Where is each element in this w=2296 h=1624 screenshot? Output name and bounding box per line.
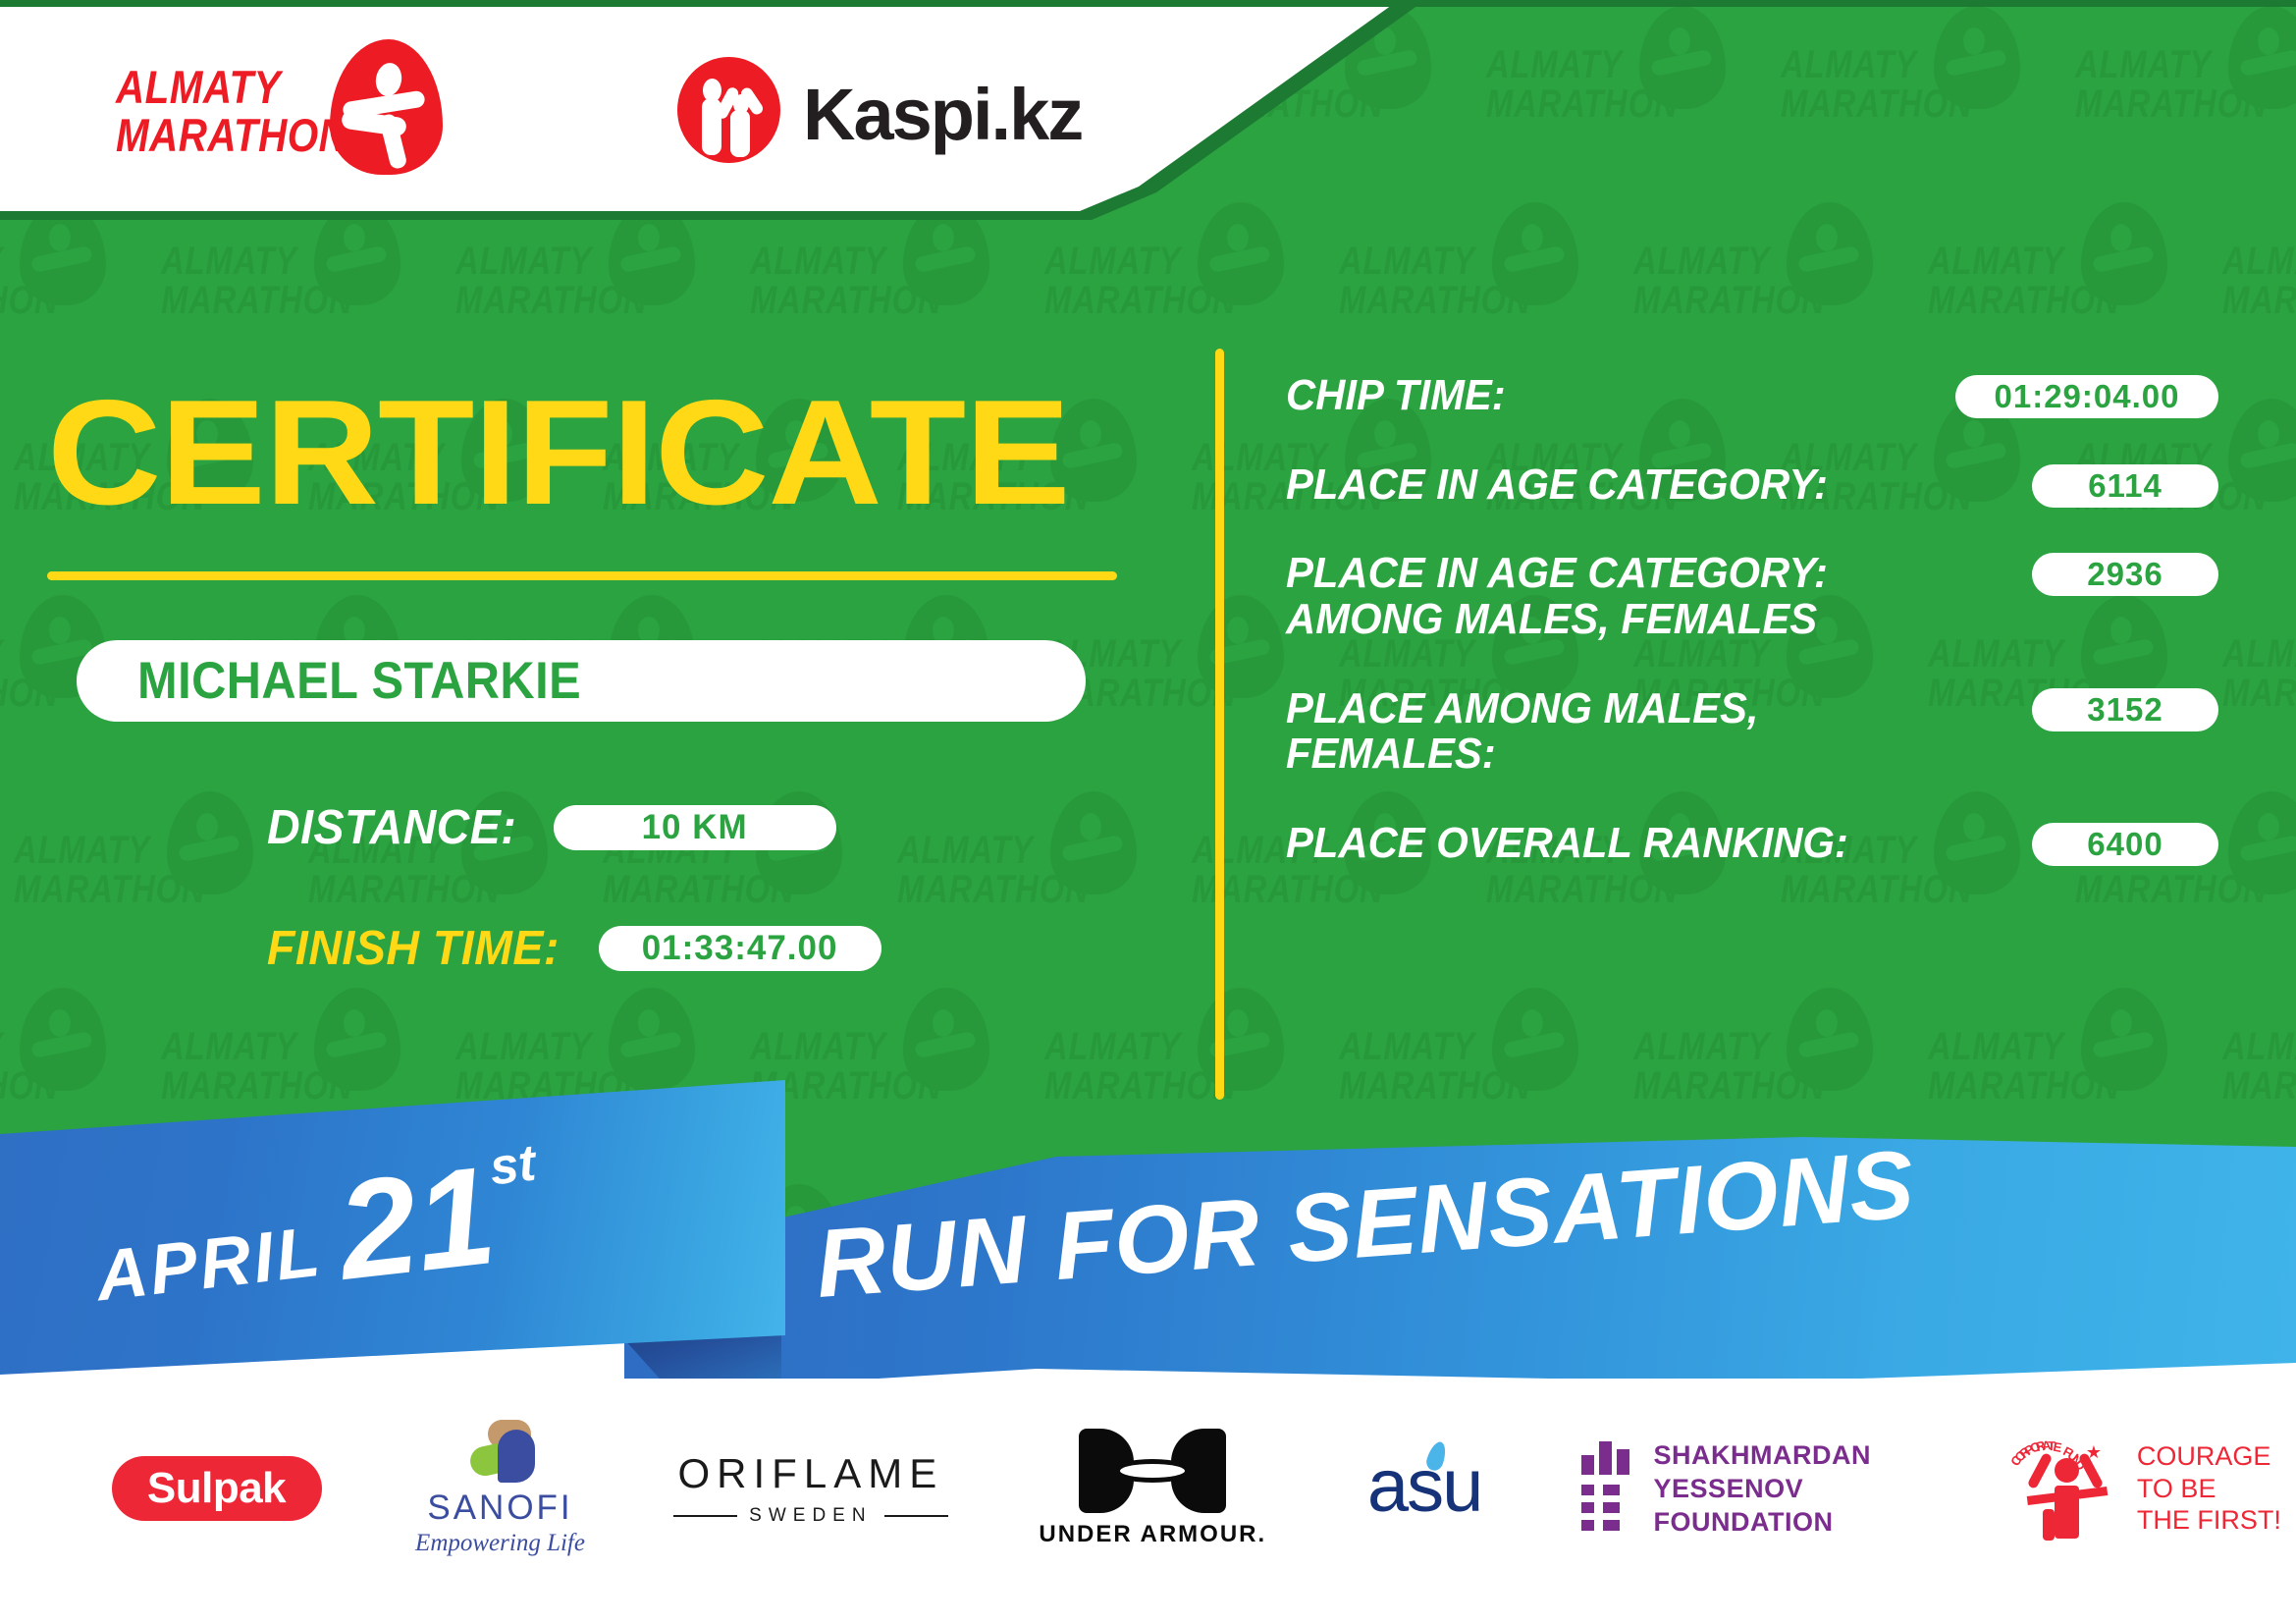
runner-drop-icon xyxy=(330,39,443,175)
stat-pill: 6114 xyxy=(2032,464,2218,508)
sanofi-wordmark: SANOFI xyxy=(427,1489,572,1528)
courage-head xyxy=(2055,1458,2079,1483)
distance-label: DISTANCE: xyxy=(267,800,516,855)
almaty-marathon-logo: ALMATY MARATHON xyxy=(116,41,450,164)
courage-line2: TO BE xyxy=(2137,1473,2281,1505)
asu-wordmark: asu xyxy=(1367,1444,1482,1528)
event-day: 21 xyxy=(333,1159,500,1290)
stat-value: 2936 xyxy=(2087,556,2163,593)
yessenov-bar xyxy=(1581,1502,1594,1513)
asu-mark: asu xyxy=(1367,1443,1515,1534)
yessenov-line2: FOUNDATION xyxy=(1654,1505,1977,1539)
oriflame-sub-text: SWEDEN xyxy=(749,1505,872,1527)
sponsor-logo-sanofi: SANOFI Empowering Life xyxy=(376,1420,624,1557)
stat-value: 01:29:04.00 xyxy=(1995,378,2180,415)
finish-time-value: 01:33:47.00 xyxy=(642,929,838,968)
yessenov-bar xyxy=(1581,1455,1594,1475)
yessenov-wordmark: SHAKHMARDAN YESSENOV FOUNDATION xyxy=(1654,1438,1977,1539)
stat-label-line2: AMONG MALES, FEMALES xyxy=(1286,597,1982,643)
courage-runner-icon: CORPORATE FUND ★ xyxy=(2007,1435,2125,1543)
oriflame-wordmark: ORIFLAME xyxy=(678,1450,944,1497)
yessenov-bar xyxy=(1603,1502,1620,1513)
finish-time-label: FINISH TIME: xyxy=(267,921,560,976)
distance-pill: 10 KM xyxy=(554,805,836,850)
yessenov-bar xyxy=(1603,1520,1620,1531)
stat-pill: 6400 xyxy=(2032,823,2218,866)
athlete-name-value: MICHAEL STARKIE xyxy=(137,651,581,711)
stat-label: PLACE AMONG MALES, FEMALES: xyxy=(1286,686,1995,778)
distance-value: 10 KM xyxy=(642,808,748,847)
distance-row: DISTANCE: 10 KM xyxy=(267,800,836,855)
stat-row-chip-time: CHIP TIME: 01:29:04.00 xyxy=(1286,373,2218,419)
stat-pill: 3152 xyxy=(2032,688,2218,731)
event-day-suffix: st xyxy=(487,1134,539,1198)
courage-leg xyxy=(2043,1509,2055,1541)
stat-label: PLACE IN AGE CATEGORY: xyxy=(1286,462,1995,509)
athlete-name-field: MICHAEL STARKIE xyxy=(77,640,1086,722)
sulpak-pill-shape: Sulpak xyxy=(112,1456,322,1521)
courage-wordmark: COURAGE TO BE THE FIRST! xyxy=(2137,1440,2281,1538)
almaty-marathon-wordmark: ALMATY MARATHON xyxy=(116,65,361,157)
finish-time-pill: 01:33:47.00 xyxy=(599,926,881,971)
stat-value: 3152 xyxy=(2087,691,2163,729)
marathon-logo-line2: MARATHON xyxy=(116,113,327,157)
yessenov-bar xyxy=(1581,1520,1594,1531)
page-title: CERTIFICATE xyxy=(47,378,1070,527)
yessenov-bars-icon xyxy=(1581,1441,1634,1536)
stat-label: PLACE OVERALL RANKING: xyxy=(1286,821,1995,867)
stat-value: 6400 xyxy=(2087,826,2163,863)
sanofi-swoosh-icon xyxy=(462,1420,539,1485)
kaspi-logo: Kaspi.kz xyxy=(677,57,1090,165)
stats-column: CHIP TIME: 01:29:04.00 PLACE IN AGE CATE… xyxy=(1286,373,2218,909)
oriflame-rule-left xyxy=(673,1515,737,1517)
stat-row-place-overall: PLACE OVERALL RANKING: 6400 xyxy=(1286,821,2218,867)
stat-row-place-age-category: PLACE IN AGE CATEGORY: 6114 xyxy=(1286,462,2218,509)
stat-pill: 01:29:04.00 xyxy=(1955,375,2218,418)
stat-pill: 2936 xyxy=(2032,553,2218,596)
sponsor-logo-asu: asu xyxy=(1326,1420,1556,1557)
sponsor-logo-sulpak: Sulpak xyxy=(79,1420,354,1557)
kaspi-wordmark: Kaspi.kz xyxy=(803,73,1082,156)
stat-value: 6114 xyxy=(2088,467,2163,505)
sanofi-tagline: Empowering Life xyxy=(415,1530,585,1557)
ua-center-inner xyxy=(1120,1464,1185,1478)
under-armour-icon xyxy=(1079,1429,1226,1513)
stat-label-line1: PLACE IN AGE CATEGORY: xyxy=(1286,551,1982,597)
yessenov-bar xyxy=(1603,1485,1620,1495)
courage-arc-char: E xyxy=(2052,1439,2062,1455)
sanofi-blue-shape xyxy=(498,1430,535,1483)
courage-line1: COURAGE xyxy=(2137,1440,2281,1473)
stat-label-line2: FEMALES: xyxy=(1286,731,1982,778)
top-green-strip xyxy=(0,0,2296,7)
courage-line3: THE FIRST! xyxy=(2137,1504,2281,1537)
oriflame-subline: SWEDEN xyxy=(673,1505,948,1527)
title-underline xyxy=(47,571,1117,580)
sponsor-logo-yessenov-foundation: SHAKHMARDAN YESSENOV FOUNDATION xyxy=(1581,1420,1977,1557)
sponsor-logo-under-armour: UNDER ARMOUR. xyxy=(1015,1420,1291,1557)
sponsor-logo-oriflame: ORIFLAME SWEDEN xyxy=(664,1420,958,1557)
column-divider xyxy=(1215,349,1224,1100)
sulpak-wordmark: Sulpak xyxy=(147,1464,286,1513)
stat-label-line1: PLACE AMONG MALES, xyxy=(1286,686,1982,732)
yessenov-line1: SHAKHMARDAN YESSENOV xyxy=(1654,1438,1977,1505)
sponsor-strip: Sulpak SANOFI Empowering Life ORIFLAME S… xyxy=(0,1400,2296,1577)
sponsor-footer: Sulpak SANOFI Empowering Life ORIFLAME S… xyxy=(0,1379,2296,1624)
stat-row-place-among-gender: PLACE AMONG MALES, FEMALES: 3152 xyxy=(1286,686,2218,778)
kaspi-child-body xyxy=(730,110,750,157)
stat-label: PLACE IN AGE CATEGORY: AMONG MALES, FEMA… xyxy=(1286,551,1995,642)
kaspi-people-icon xyxy=(677,57,780,163)
kaspi-adult-body xyxy=(702,98,721,155)
oriflame-rule-right xyxy=(884,1515,948,1517)
sponsor-logo-courage-fund: CORPORATE FUND ★ COURAGE TO BE THE FIRST… xyxy=(1993,1420,2296,1557)
under-armour-wordmark: UNDER ARMOUR. xyxy=(1039,1521,1266,1548)
yessenov-bar xyxy=(1599,1441,1612,1475)
yessenov-bar xyxy=(1581,1485,1594,1495)
finish-time-row: FINISH TIME: 01:33:47.00 xyxy=(267,921,881,976)
certificate-page: ALMATYMARATHONALMATYMARATHONALMATYMARATH… xyxy=(0,0,2296,1624)
stat-row-place-age-category-gender: PLACE IN AGE CATEGORY: AMONG MALES, FEMA… xyxy=(1286,551,2218,642)
yessenov-bar xyxy=(1617,1449,1629,1475)
stat-label: CHIP TIME: xyxy=(1286,373,1922,419)
marathon-logo-line1: ALMATY xyxy=(116,65,327,109)
